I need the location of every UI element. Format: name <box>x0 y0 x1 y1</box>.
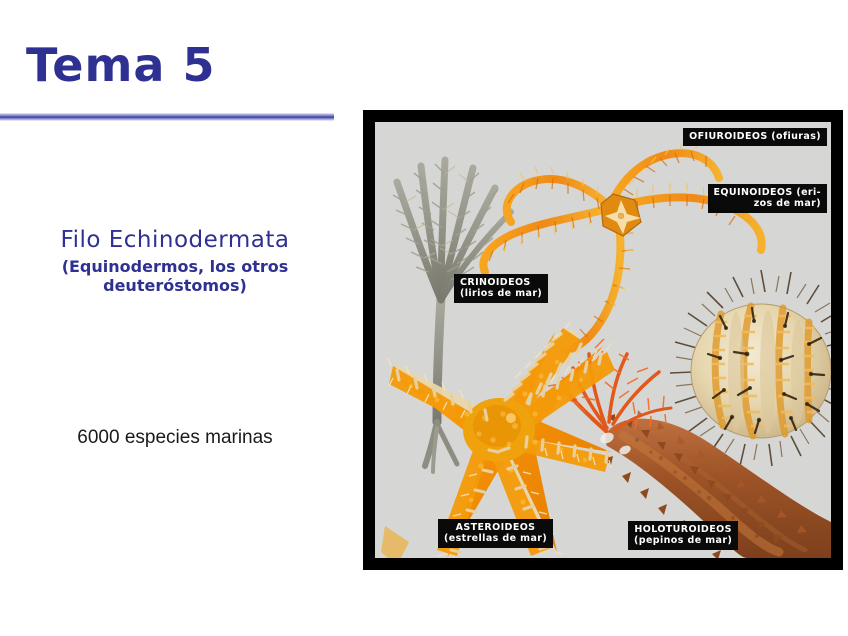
echinoderm-figure-canvas: OFIUROIDEOS (ofiuras) EQUINOIDEOS (eri- … <box>375 122 831 558</box>
label-holoturoideos: HOLOTUROIDEOS (pepinos de mar) <box>628 521 738 550</box>
phylum-common-name: (Equinodermos, los otros deuteróstomos) <box>10 257 340 296</box>
page-title: Tema 5 <box>26 42 215 88</box>
phylum-heading-block: Filo Echinodermata (Equinodermos, los ot… <box>10 228 340 296</box>
phylum-scientific-name: Filo Echinodermata <box>10 228 340 254</box>
species-count-text: 6000 especies marinas <box>10 427 340 449</box>
label-ofiuroideos: OFIUROIDEOS (ofiuras) <box>683 128 827 146</box>
label-crinoideos: CRINOIDEOS (lirios de mar) <box>454 274 548 303</box>
small-sea-star-fragment <box>381 526 409 558</box>
echinoderm-figure-frame: OFIUROIDEOS (ofiuras) EQUINOIDEOS (eri- … <box>363 110 843 570</box>
label-equinoideos: EQUINOIDEOS (eri- zos de mar) <box>708 184 827 213</box>
title-divider <box>0 113 334 121</box>
label-asteroideos: ASTEROIDEOS (estrellas de mar) <box>438 519 553 548</box>
